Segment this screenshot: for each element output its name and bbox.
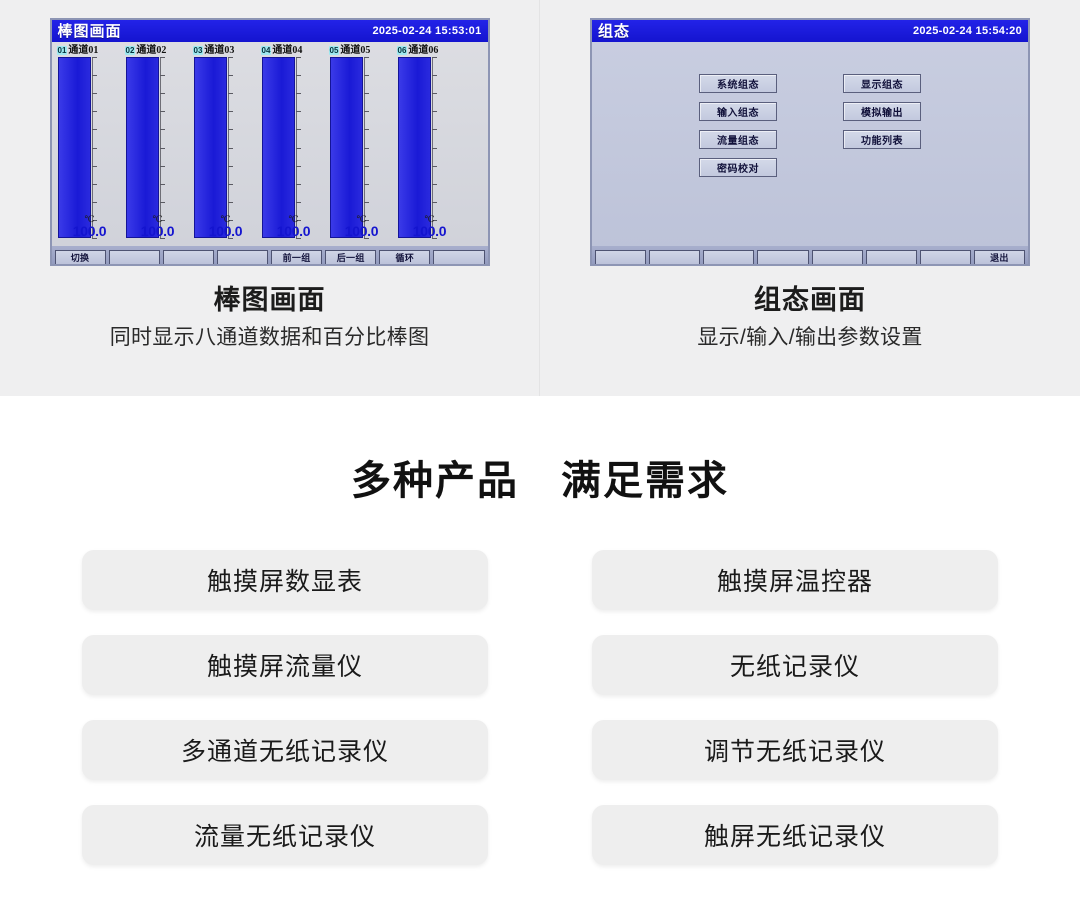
bar-fill: [398, 57, 431, 238]
device-datetime: 2025-02-24 15:53:01: [372, 25, 481, 37]
axis-tick: [432, 148, 437, 149]
channel-header: 05通道05: [328, 44, 396, 57]
softkey-config-5-blank[interactable]: [866, 250, 917, 265]
channel-readout: ℃100.0: [192, 214, 260, 244]
softkey-config-3-blank[interactable]: [757, 250, 808, 265]
channel-name-label: 通道03: [204, 46, 234, 56]
bar-track: [58, 57, 124, 238]
bar-scale-axis: [228, 57, 229, 238]
axis-tick: [92, 93, 97, 94]
axis-tick: [92, 111, 97, 112]
product-pill[interactable]: 调节无纸记录仪: [592, 720, 998, 780]
configuration-menu-grid: 系统组态输入组态流量组态密码校对 显示组态模拟输出功能列表: [592, 74, 1028, 177]
axis-tick: [160, 166, 165, 167]
channel-number-tag: 04: [261, 46, 272, 55]
axis-tick: [432, 166, 437, 167]
axis-tick: [364, 111, 369, 112]
softkey-config-0-blank[interactable]: [595, 250, 646, 265]
bar-fill: [58, 57, 91, 238]
axis-tick: [432, 111, 437, 112]
product-pill[interactable]: 触摸屏流量仪: [82, 635, 488, 695]
channel-value: 100.0: [124, 224, 192, 239]
channel-name-label: 通道05: [340, 46, 370, 56]
axis-tick: [160, 75, 165, 76]
device-title-bar: 组态 2025-02-24 15:54:20: [592, 20, 1028, 42]
bar-track: [398, 57, 464, 238]
product-pill[interactable]: 触摸屏数显表: [82, 550, 488, 610]
axis-tick: [296, 57, 301, 58]
config-menu-button-left-2[interactable]: 流量组态: [699, 130, 777, 149]
bar-column: 01通道01: [56, 44, 124, 238]
axis-tick: [296, 93, 301, 94]
channel-readout: ℃100.0: [56, 214, 124, 244]
product-pill[interactable]: 触屏无纸记录仪: [592, 805, 998, 865]
axis-tick: [296, 129, 301, 130]
products-section: 多种产品 满足需求 触摸屏数显表触摸屏流量仪多通道无纸记录仪流量无纸记录仪 触摸…: [0, 396, 1080, 912]
softkey-bargraph-6[interactable]: 循环: [379, 250, 430, 265]
axis-tick: [92, 129, 97, 130]
axis-tick: [160, 111, 165, 112]
channel-readout: ℃100.0: [396, 214, 464, 244]
panel-caption-title: 组态画面: [754, 286, 866, 316]
device-screen-bar-graph: 棒图画面 2025-02-24 15:53:01 01通道0102通道0203通…: [50, 18, 490, 266]
config-menu-button-right-0[interactable]: 显示组态: [843, 74, 921, 93]
device-screen-configuration: 组态 2025-02-24 15:54:20 系统组态输入组态流量组态密码校对 …: [590, 18, 1030, 266]
bar-columns: 01通道0102通道0203通道0304通道0405通道0506通道06: [56, 44, 488, 238]
bar-scale-axis: [296, 57, 297, 238]
axis-tick: [296, 202, 301, 203]
softkey-config-2-blank[interactable]: [703, 250, 754, 265]
channel-value: 100.0: [260, 224, 328, 239]
product-pill[interactable]: 多通道无纸记录仪: [82, 720, 488, 780]
bar-scale-axis: [364, 57, 365, 238]
channel-value: 100.0: [396, 224, 464, 239]
bar-scale-axis: [432, 57, 433, 238]
softkey-config-7[interactable]: 退出: [974, 250, 1025, 265]
channel-value: 100.0: [328, 224, 396, 239]
page-root: 棒图画面 2025-02-24 15:53:01 01通道0102通道0203通…: [0, 0, 1080, 912]
channel-header: 04通道04: [260, 44, 328, 57]
channel-name-label: 通道02: [136, 46, 166, 56]
axis-tick: [432, 75, 437, 76]
product-pill[interactable]: 流量无纸记录仪: [82, 805, 488, 865]
bar-column: 02通道02: [124, 44, 192, 238]
bar-track: [262, 57, 328, 238]
axis-tick: [92, 184, 97, 185]
config-menu-right-column: 显示组态模拟输出功能列表: [843, 74, 921, 177]
product-pill[interactable]: 无纸记录仪: [592, 635, 998, 695]
softkey-bar-bar-graph[interactable]: 切换前一组后一组循环: [52, 246, 488, 266]
axis-tick: [364, 57, 369, 58]
channel-name-label: 通道04: [272, 46, 302, 56]
axis-tick: [160, 93, 165, 94]
axis-tick: [228, 166, 233, 167]
axis-tick: [364, 148, 369, 149]
bar-column: 03通道03: [192, 44, 260, 238]
channel-number-tag: 06: [397, 46, 408, 55]
channel-header: 06通道06: [396, 44, 464, 57]
axis-tick: [296, 75, 301, 76]
axis-tick: [296, 184, 301, 185]
axis-tick: [160, 129, 165, 130]
channel-readout: ℃100.0: [328, 214, 396, 244]
axis-tick: [364, 129, 369, 130]
config-menu-button-right-2[interactable]: 功能列表: [843, 130, 921, 149]
products-grid: 触摸屏数显表触摸屏流量仪多通道无纸记录仪流量无纸记录仪 触摸屏温控器无纸记录仪调…: [0, 550, 1080, 865]
channel-value: 100.0: [56, 224, 124, 239]
panel-caption-subtitle: 显示/输入/输出参数设置: [697, 325, 922, 350]
bar-track: [194, 57, 260, 238]
softkey-config-4-blank[interactable]: [812, 250, 863, 265]
axis-tick: [228, 148, 233, 149]
channel-number-tag: 05: [329, 46, 340, 55]
config-menu-button-left-1[interactable]: 输入组态: [699, 102, 777, 121]
axis-tick: [364, 75, 369, 76]
axis-tick: [92, 75, 97, 76]
bar-fill: [262, 57, 295, 238]
axis-tick: [160, 57, 165, 58]
configuration-screen-body: 系统组态输入组态流量组态密码校对 显示组态模拟输出功能列表 退出: [592, 42, 1028, 266]
axis-tick: [160, 148, 165, 149]
axis-tick: [160, 202, 165, 203]
config-menu-button-left-0[interactable]: 系统组态: [699, 74, 777, 93]
softkey-bargraph-4[interactable]: 前一组: [271, 250, 322, 265]
device-title-text: 棒图画面: [58, 24, 122, 39]
bar-column: 06通道06: [396, 44, 464, 238]
axis-tick: [296, 111, 301, 112]
bar-value-row: ℃100.0℃100.0℃100.0℃100.0℃100.0℃100.0: [52, 214, 488, 244]
showcase-panel-bar-graph: 棒图画面 2025-02-24 15:53:01 01通道0102通道0203通…: [0, 0, 540, 396]
channel-readout: ℃100.0: [260, 214, 328, 244]
config-menu-button-right-1[interactable]: 模拟输出: [843, 102, 921, 121]
softkey-bargraph-3-blank[interactable]: [217, 250, 268, 265]
softkey-bar-configuration[interactable]: 退出: [592, 246, 1028, 266]
product-pill[interactable]: 触摸屏温控器: [592, 550, 998, 610]
axis-tick: [364, 93, 369, 94]
axis-tick: [160, 184, 165, 185]
products-left-column: 触摸屏数显表触摸屏流量仪多通道无纸记录仪流量无纸记录仪: [82, 550, 488, 865]
axis-tick: [432, 57, 437, 58]
axis-tick: [364, 166, 369, 167]
products-right-column: 触摸屏温控器无纸记录仪调节无纸记录仪触屏无纸记录仪: [592, 550, 998, 865]
axis-tick: [432, 93, 437, 94]
axis-tick: [92, 148, 97, 149]
channel-value: 100.0: [192, 224, 260, 239]
bar-scale-axis: [160, 57, 161, 238]
axis-tick: [228, 75, 233, 76]
channel-name-label: 通道01: [68, 46, 98, 56]
device-title-text: 组态: [598, 24, 630, 39]
panel-caption-subtitle: 同时显示八通道数据和百分比棒图: [110, 325, 430, 350]
bar-column: 05通道05: [328, 44, 396, 238]
showcase-panel-configuration: 组态 2025-02-24 15:54:20 系统组态输入组态流量组态密码校对 …: [540, 0, 1080, 396]
bar-track: [330, 57, 396, 238]
axis-tick: [228, 111, 233, 112]
channel-header: 03通道03: [192, 44, 260, 57]
axis-tick: [92, 57, 97, 58]
channel-number-tag: 03: [193, 46, 204, 55]
softkey-bargraph-7-blank[interactable]: [433, 250, 484, 265]
axis-tick: [228, 57, 233, 58]
config-menu-button-left-3[interactable]: 密码校对: [699, 158, 777, 177]
axis-tick: [296, 166, 301, 167]
axis-tick: [432, 184, 437, 185]
axis-tick: [92, 166, 97, 167]
channel-name-label: 通道06: [408, 46, 438, 56]
softkey-bargraph-5[interactable]: 后一组: [325, 250, 376, 265]
bar-scale-axis: [92, 57, 93, 238]
axis-tick: [228, 202, 233, 203]
device-datetime: 2025-02-24 15:54:20: [913, 25, 1022, 37]
softkey-bargraph-1-blank[interactable]: [109, 250, 160, 265]
bar-graph-screen-body: 01通道0102通道0203通道0304通道0405通道0506通道06 ℃10…: [52, 42, 488, 266]
softkey-bargraph-2-blank[interactable]: [163, 250, 214, 265]
axis-tick: [364, 202, 369, 203]
axis-tick: [228, 129, 233, 130]
axis-tick: [364, 184, 369, 185]
softkey-config-6-blank[interactable]: [920, 250, 971, 265]
bar-fill: [194, 57, 227, 238]
channel-header: 01通道01: [56, 44, 124, 57]
channel-readout: ℃100.0: [124, 214, 192, 244]
bar-column: 04通道04: [260, 44, 328, 238]
softkey-config-1-blank[interactable]: [649, 250, 700, 265]
axis-tick: [228, 184, 233, 185]
axis-tick: [432, 202, 437, 203]
bar-chart-area: 01通道0102通道0203通道0304通道0405通道0506通道06: [52, 42, 488, 238]
channel-header: 02通道02: [124, 44, 192, 57]
axis-tick: [432, 129, 437, 130]
channel-number-tag: 01: [57, 46, 68, 55]
axis-tick: [92, 202, 97, 203]
bar-track: [126, 57, 192, 238]
panel-caption-title: 棒图画面: [214, 286, 326, 316]
axis-tick: [228, 93, 233, 94]
bar-fill: [126, 57, 159, 238]
channel-number-tag: 02: [125, 46, 136, 55]
products-heading: 多种产品 满足需求: [0, 396, 1080, 506]
softkey-bargraph-0[interactable]: 切换: [55, 250, 106, 265]
device-title-bar: 棒图画面 2025-02-24 15:53:01: [52, 20, 488, 42]
showcase-section: 棒图画面 2025-02-24 15:53:01 01通道0102通道0203通…: [0, 0, 1080, 396]
axis-tick: [296, 148, 301, 149]
bar-fill: [330, 57, 363, 238]
config-menu-left-column: 系统组态输入组态流量组态密码校对: [699, 74, 777, 177]
